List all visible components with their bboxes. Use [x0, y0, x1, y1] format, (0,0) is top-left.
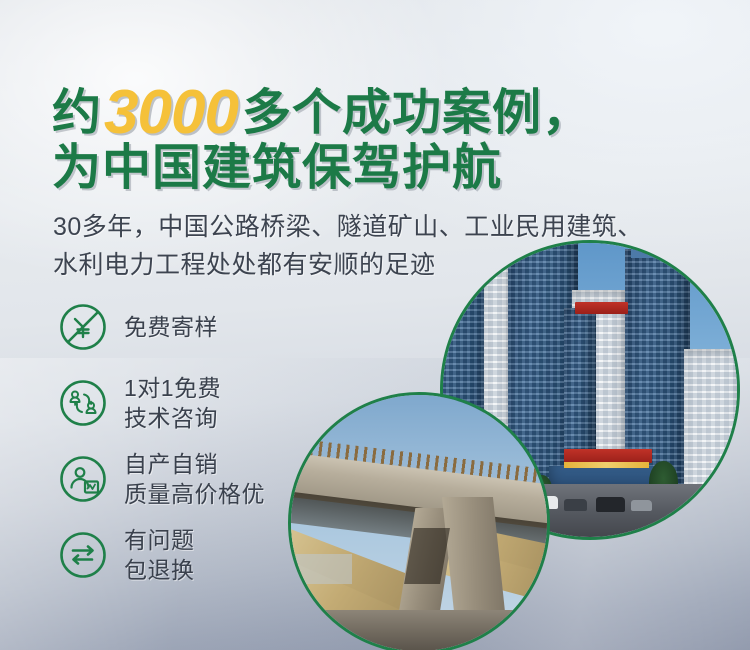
headline-prefix: 约 — [52, 86, 102, 140]
feature-label-return-exchange: 有问题 包退换 — [124, 525, 195, 585]
return-exchange-arrows-icon — [58, 530, 108, 580]
headline-suffix: 多个成功案例， — [242, 86, 592, 140]
headline: 约3000多个成功案例， 为中国建筑保驾护航 — [52, 78, 712, 206]
self-produce-sell-person-chart-icon — [58, 454, 108, 504]
free-sample-yuan-crossed-icon — [58, 302, 108, 352]
feature-line-2: 包退换 — [124, 555, 195, 585]
one-on-one-consult-people-icon — [58, 378, 108, 428]
feature-label-self-produce: 自产自销 质量高价格优 — [124, 449, 265, 509]
feature-line-1: 自产自销 — [124, 451, 218, 477]
feature-list: 免费寄样 1对1免费 技术咨询 — [58, 298, 265, 602]
feature-line-2: 技术咨询 — [124, 403, 221, 433]
feature-item-consult: 1对1免费 技术咨询 — [58, 374, 265, 432]
feature-label-consult: 1对1免费 技术咨询 — [124, 373, 221, 433]
feature-line-1: 有问题 — [124, 527, 195, 553]
feature-item-self-produce: 自产自销 质量高价格优 — [58, 450, 265, 508]
feature-item-return-exchange: 有问题 包退换 — [58, 526, 265, 584]
feature-line-1: 1对1免费 — [124, 375, 221, 401]
subtitle-line-1: 30多年，中国公路桥梁、隧道矿山、工业民用建筑、 — [53, 208, 743, 246]
headline-number: 3000 — [102, 78, 242, 147]
feature-item-free-sample: 免费寄样 — [58, 298, 265, 356]
feature-line-1: 免费寄样 — [124, 314, 218, 340]
feature-label-free-sample: 免费寄样 — [124, 312, 218, 342]
headline-line-1: 约3000多个成功案例， — [52, 78, 712, 140]
highway-bridge-photo — [288, 392, 550, 650]
feature-line-2: 质量高价格优 — [124, 479, 265, 509]
promo-banner: 约3000多个成功案例， 为中国建筑保驾护航 30多年，中国公路桥梁、隧道矿山、… — [0, 0, 750, 650]
headline-line-2: 为中国建筑保驾护航 — [52, 144, 712, 206]
